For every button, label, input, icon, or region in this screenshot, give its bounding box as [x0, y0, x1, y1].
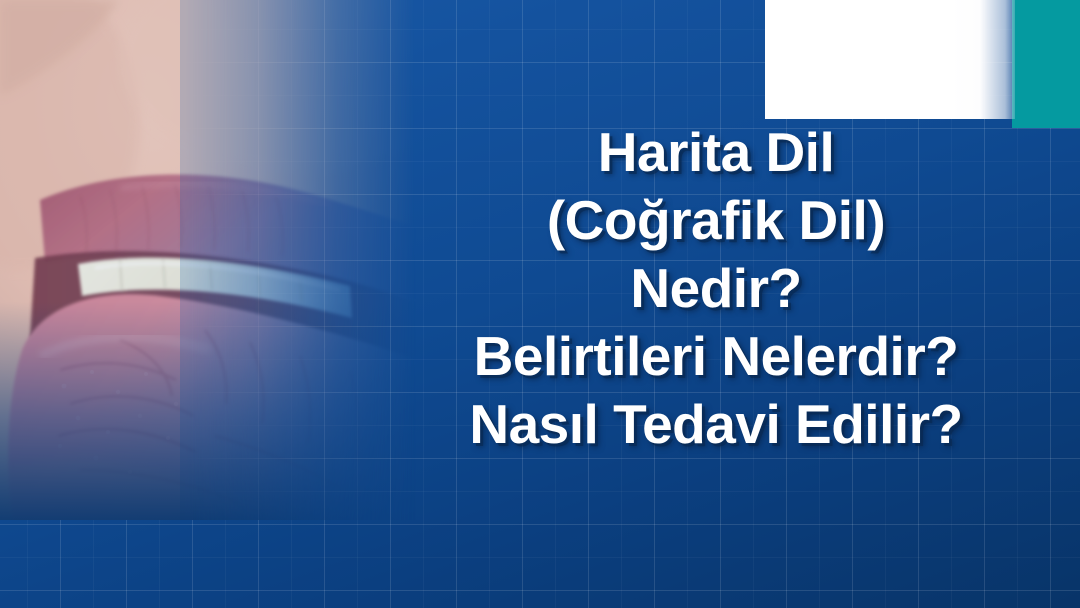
- mouth-tongue-photo: [0, 0, 420, 520]
- promo-banner: MEDICABIL Sağlık Grubu Harita Dil (Coğra…: [0, 0, 1080, 608]
- headline-line-4: Belirtileri Nelerdir?: [380, 322, 1052, 390]
- headline-line-3: Nedir?: [380, 254, 1052, 322]
- headline-line-2: (Coğrafik Dil): [380, 186, 1052, 254]
- teal-accent-block: [1012, 0, 1080, 128]
- footer-bar: 444 8 112: [0, 526, 1080, 608]
- logo-panel: MEDICABIL Sağlık Grubu: [765, 0, 1015, 119]
- headline-line-5: Nasıl Tedavi Edilir?: [380, 390, 1052, 458]
- headline-line-1: Harita Dil: [380, 118, 1052, 186]
- mouth-tongue-illustration: [0, 0, 420, 520]
- page-title: Harita Dil (Coğrafik Dil) Nedir? Belirti…: [380, 118, 1052, 458]
